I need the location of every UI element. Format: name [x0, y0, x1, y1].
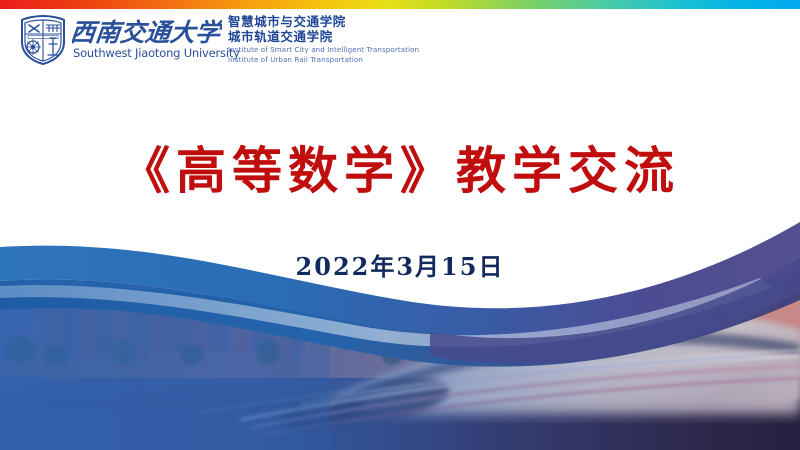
institute-cn-line-2: 城市轨道交通学院 — [228, 30, 419, 45]
university-header: 西南交通大学 Southwest Jiaotong University 智慧城… — [18, 14, 419, 66]
decorative-wave-lower — [0, 268, 800, 367]
university-name-cn-calligraphy: 西南交通大学 — [72, 16, 222, 48]
institute-en-line-1: Institute of Smart City and Intelligent … — [228, 46, 419, 56]
svg-text:西南交通大学: 西南交通大学 — [72, 17, 222, 47]
institute-en-line-2: Institute of Urban Rail Transportation — [228, 56, 419, 66]
institute-cn-line-1: 智慧城市与交通学院 — [228, 15, 419, 30]
university-wordmark: 西南交通大学 Southwest Jiaotong University — [72, 16, 222, 66]
institute-names: 智慧城市与交通学院 城市轨道交通学院 Institute of Smart Ci… — [228, 15, 419, 65]
slide-artwork — [0, 0, 800, 450]
train-graphic — [200, 315, 800, 436]
university-name-en: Southwest Jiaotong University — [73, 46, 240, 60]
rainbow-gradient-bar — [0, 0, 800, 9]
presentation-title-slide: 西南交通大学 Southwest Jiaotong University 智慧城… — [0, 0, 800, 450]
photo-layer — [0, 255, 800, 450]
page-title: 《高等数学》教学交流 — [0, 131, 800, 203]
presentation-date: 2022年3月15日 — [0, 247, 800, 282]
decorative-wave-highlight — [0, 278, 772, 347]
swjtu-shield-icon — [18, 14, 68, 66]
